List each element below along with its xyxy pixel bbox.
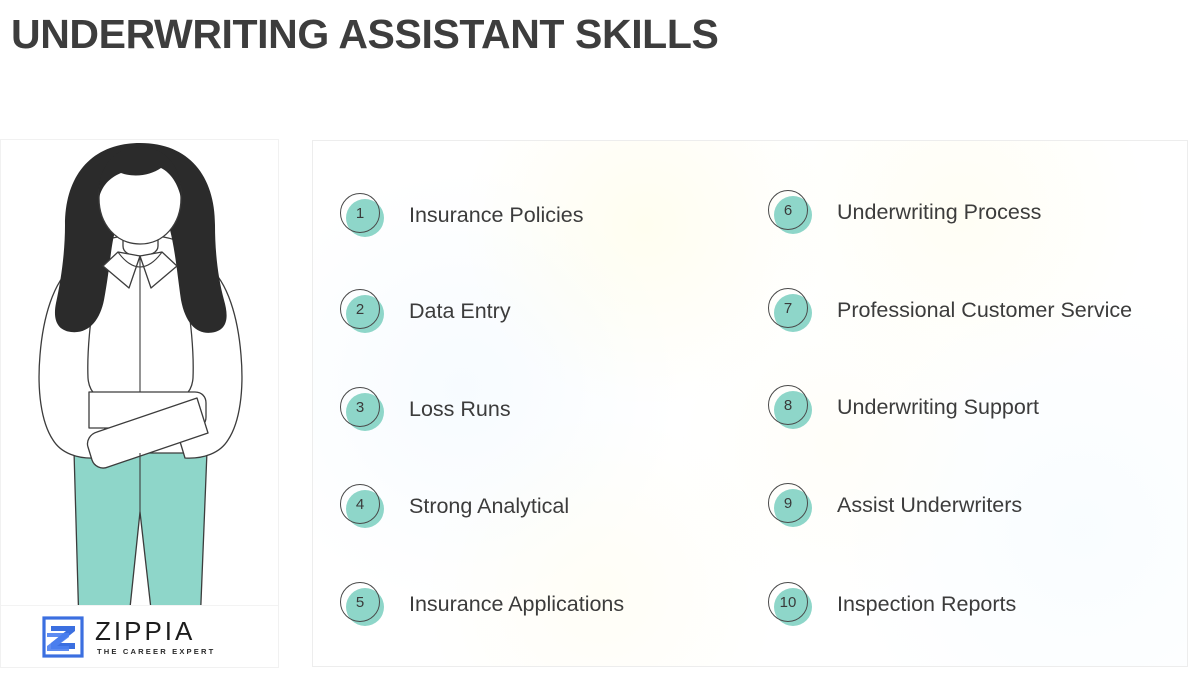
skill-label: Assist Underwriters (837, 495, 1022, 517)
skill-number-badge: 7 (768, 288, 814, 334)
skill-number-badge: 1 (340, 193, 386, 239)
zippia-wordmark: ZIPPIA (95, 618, 215, 644)
skill-number-badge: 6 (768, 190, 814, 236)
illustration-panel: ZIPPIA THE CAREER EXPERT (0, 139, 279, 668)
skill-label: Strong Analytical (409, 496, 569, 518)
skill-number: 9 (768, 483, 808, 523)
skill-item-4[interactable]: 4 Strong Analytical (340, 483, 569, 531)
skill-number: 5 (340, 582, 380, 622)
skill-number-badge: 3 (340, 387, 386, 433)
skill-number: 3 (340, 387, 380, 427)
skill-number: 2 (340, 289, 380, 329)
skill-label: Loss Runs (409, 399, 511, 421)
skill-label: Insurance Policies (409, 205, 583, 227)
woman-arms-crossed-illustration (1, 140, 279, 627)
skill-number: 10 (768, 582, 808, 622)
zippia-tagline: THE CAREER EXPERT (97, 648, 215, 656)
page-title: UNDERWRITING ASSISTANT SKILLS (11, 14, 718, 55)
skill-number-badge: 9 (768, 483, 814, 529)
skill-item-5[interactable]: 5 Insurance Applications (340, 581, 624, 629)
skill-number-badge: 8 (768, 385, 814, 431)
skill-number: 8 (768, 385, 808, 425)
skill-item-3[interactable]: 3 Loss Runs (340, 386, 511, 434)
skill-item-9[interactable]: 9 Assist Underwriters (768, 482, 1022, 530)
skill-label: Data Entry (409, 301, 511, 323)
skill-label: Underwriting Process (837, 202, 1041, 224)
skill-number: 7 (768, 288, 808, 328)
zippia-z-mark (41, 616, 85, 658)
skill-number: 4 (340, 484, 380, 524)
skill-number: 1 (340, 193, 380, 233)
skill-item-10[interactable]: 10 Inspection Reports (768, 581, 1016, 629)
zippia-logo: ZIPPIA THE CAREER EXPERT (1, 605, 279, 667)
skill-item-1[interactable]: 1 Insurance Policies (340, 192, 583, 240)
skill-number-badge: 2 (340, 289, 386, 335)
skill-number-badge: 5 (340, 582, 386, 628)
skill-label: Inspection Reports (837, 594, 1016, 616)
skill-item-6[interactable]: 6 Underwriting Process (768, 189, 1041, 237)
skills-card: 1 Insurance Policies 2 Data Entry 3 Loss… (312, 140, 1188, 667)
skill-item-7[interactable]: 7 Professional Customer Service (768, 287, 1132, 335)
skill-number: 6 (768, 190, 808, 230)
skill-number-badge: 4 (340, 484, 386, 530)
skill-number-badge: 10 (768, 582, 814, 628)
skill-label: Underwriting Support (837, 397, 1039, 419)
skill-item-8[interactable]: 8 Underwriting Support (768, 384, 1039, 432)
skill-label: Professional Customer Service (837, 300, 1132, 322)
skill-item-2[interactable]: 2 Data Entry (340, 288, 511, 336)
skill-label: Insurance Applications (409, 594, 624, 616)
